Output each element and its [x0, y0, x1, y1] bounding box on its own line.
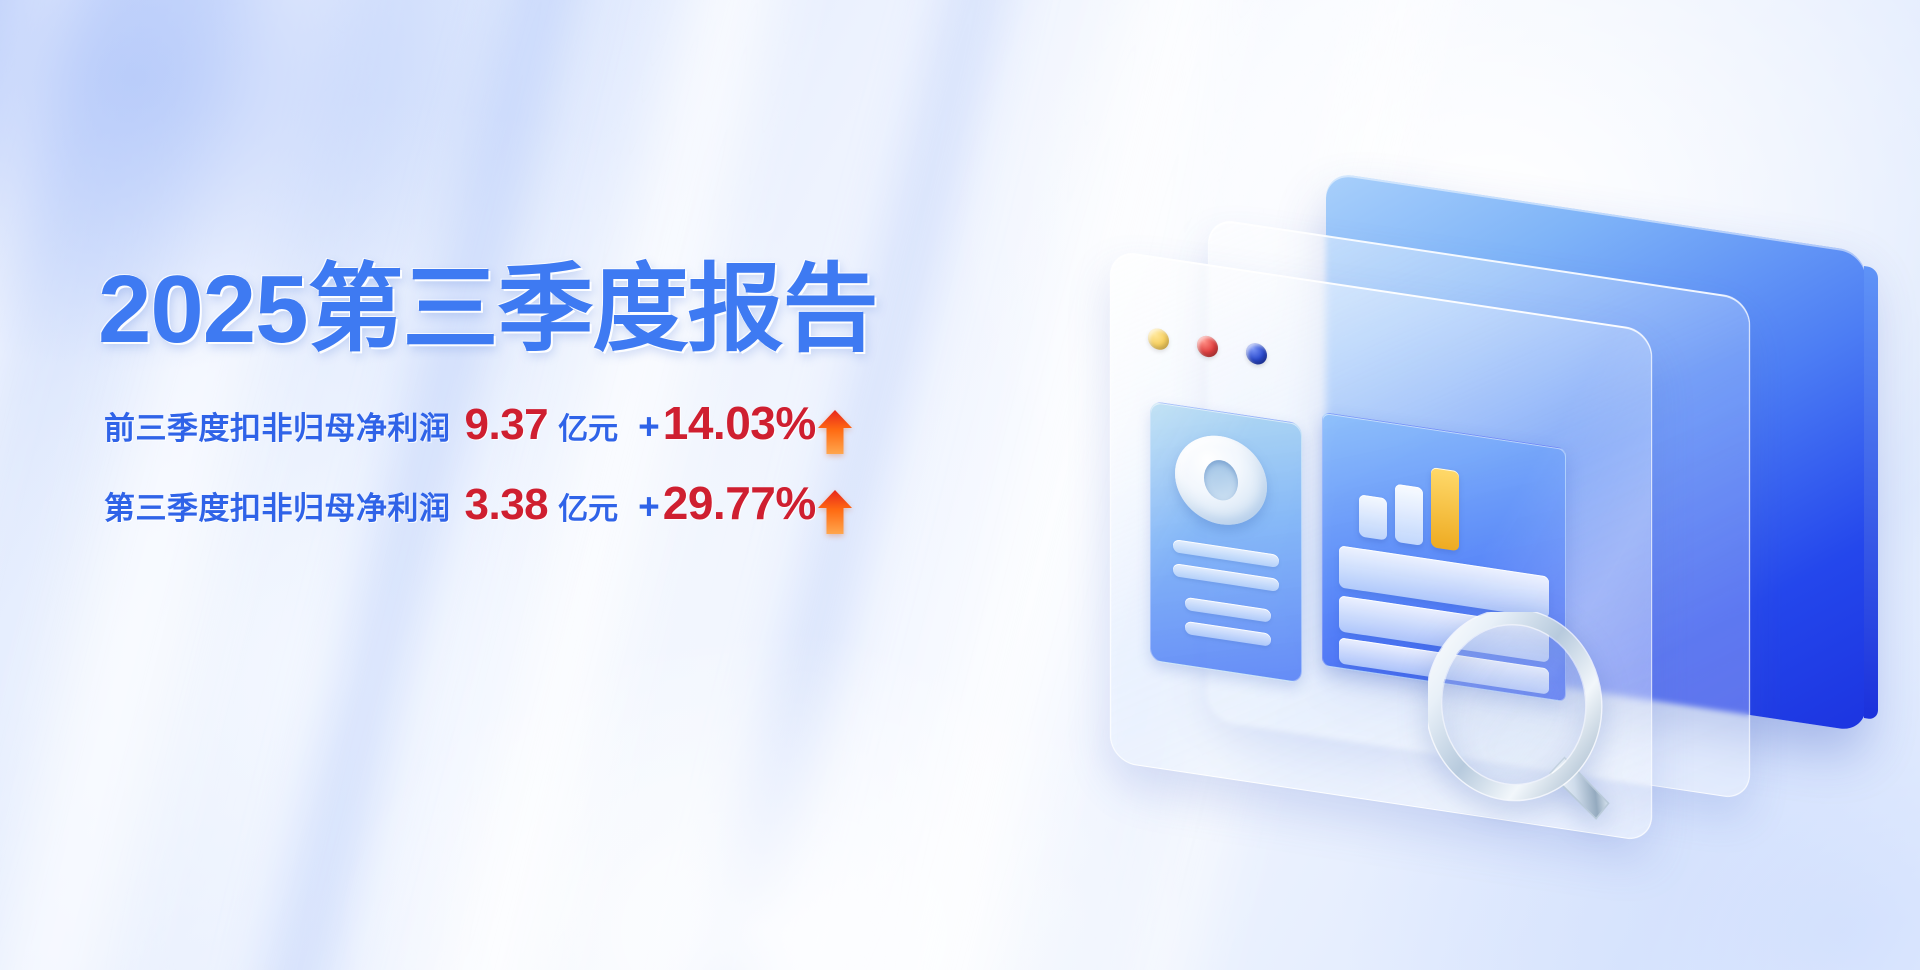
bar-chart-bar-medium [1395, 484, 1423, 546]
bar-chart-bar-tall-highlight [1431, 467, 1459, 551]
illustration-stacked-glass-dashboard [1030, 150, 1890, 850]
stat-sign: + [638, 486, 660, 528]
sidebar-list-row [1185, 597, 1271, 623]
sidebar-list-row [1173, 539, 1279, 568]
sidebar-list-row [1173, 563, 1279, 592]
sidebar-list-row [1185, 621, 1271, 647]
dot-red-icon [1197, 334, 1218, 358]
copy-block: 2025第三季度报告 前三季度扣非归母净利润 9.37 亿元 + 14.03% [98, 262, 858, 530]
stat-label: 前三季度扣非归母净利润 [104, 403, 451, 448]
stat-row-annual: 前三季度扣非归母净利润 9.37 亿元 + 14.03% [104, 396, 858, 450]
stat-row-quarter: 第三季度扣非归母净利润 3.38 亿元 + 29.77% [104, 476, 858, 530]
stat-value: 9.37 [465, 400, 549, 450]
magnifying-glass-icon [1428, 612, 1638, 842]
stat-sign: + [638, 406, 660, 448]
page-title: 2025第三季度报告 [98, 262, 858, 358]
stat-change: 14.03% [663, 396, 816, 450]
arrow-up-icon [818, 410, 852, 454]
dot-yellow-icon [1148, 327, 1169, 351]
dot-blue-icon [1246, 342, 1267, 366]
stat-label: 第三季度扣非归母净利润 [104, 483, 451, 528]
stat-unit: 亿元 [558, 404, 618, 448]
banner-stage: 2025第三季度报告 前三季度扣非归母净利润 9.37 亿元 + 14.03% [0, 0, 1920, 970]
stat-unit: 亿元 [558, 484, 618, 528]
donut-chart-icon [1175, 429, 1267, 531]
sidebar-card [1150, 401, 1302, 684]
bar-chart-bar-small [1359, 494, 1387, 540]
stat-change: 29.77% [663, 476, 816, 530]
arrow-up-icon [818, 490, 852, 534]
stat-value: 3.38 [465, 480, 549, 530]
